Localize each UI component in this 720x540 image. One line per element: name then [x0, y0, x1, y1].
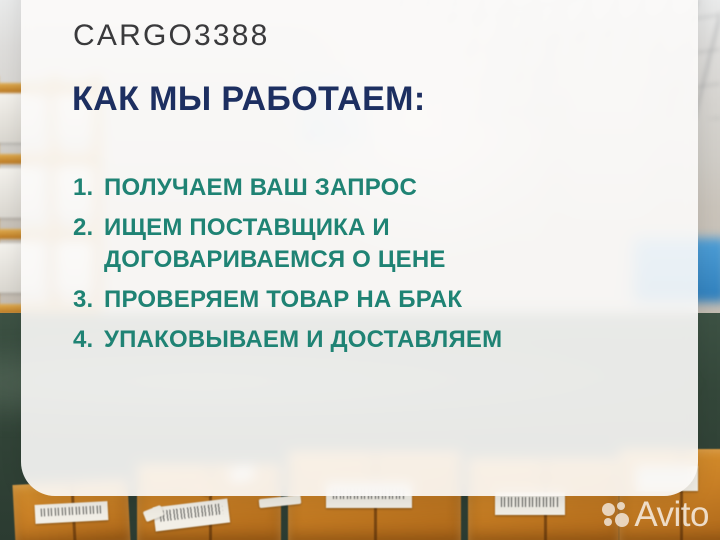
page-title: КАК МЫ РАБОТАЕМ: — [72, 80, 426, 119]
step-number: 4. — [73, 326, 104, 354]
avito-watermark: Avito — [602, 497, 709, 532]
step-text: ИЩЕМ ПОСТАВЩИКА И ДОГОВАРИВАЕМСЯ О ЦЕНЕ — [104, 212, 534, 277]
step-number: 2. — [73, 214, 104, 242]
list-item: 4. УПАКОВЫВАЕМ И ДОСТАВЛЯЕМ — [73, 324, 534, 357]
promo-image: CARGO3388 КАК МЫ РАБОТАЕМ: 1. ПОЛУЧАЕМ В… — [0, 0, 720, 540]
step-text: ПРОВЕРЯЕМ ТОВАР НА БРАК — [104, 284, 534, 317]
step-number: 1. — [73, 174, 104, 202]
brand-logo: CARGO3388 — [73, 19, 270, 53]
list-item: 3. ПРОВЕРЯЕМ ТОВАР НА БРАК — [73, 284, 534, 317]
avito-dots-icon — [602, 502, 629, 528]
step-text: ПОЛУЧАЕМ ВАШ ЗАПРОС — [104, 172, 534, 205]
step-number: 3. — [73, 286, 104, 314]
steps-list: 1. ПОЛУЧАЕМ ВАШ ЗАПРОС 2. ИЩЕМ ПОСТАВЩИК… — [73, 172, 534, 363]
list-item: 2. ИЩЕМ ПОСТАВЩИКА И ДОГОВАРИВАЕМСЯ О ЦЕ… — [73, 212, 534, 277]
list-item: 1. ПОЛУЧАЕМ ВАШ ЗАПРОС — [73, 172, 534, 205]
step-text: УПАКОВЫВАЕМ И ДОСТАВЛЯЕМ — [104, 324, 534, 357]
avito-wordmark: Avito — [634, 497, 709, 532]
content-card: CARGO3388 КАК МЫ РАБОТАЕМ: 1. ПОЛУЧАЕМ В… — [21, 0, 698, 496]
